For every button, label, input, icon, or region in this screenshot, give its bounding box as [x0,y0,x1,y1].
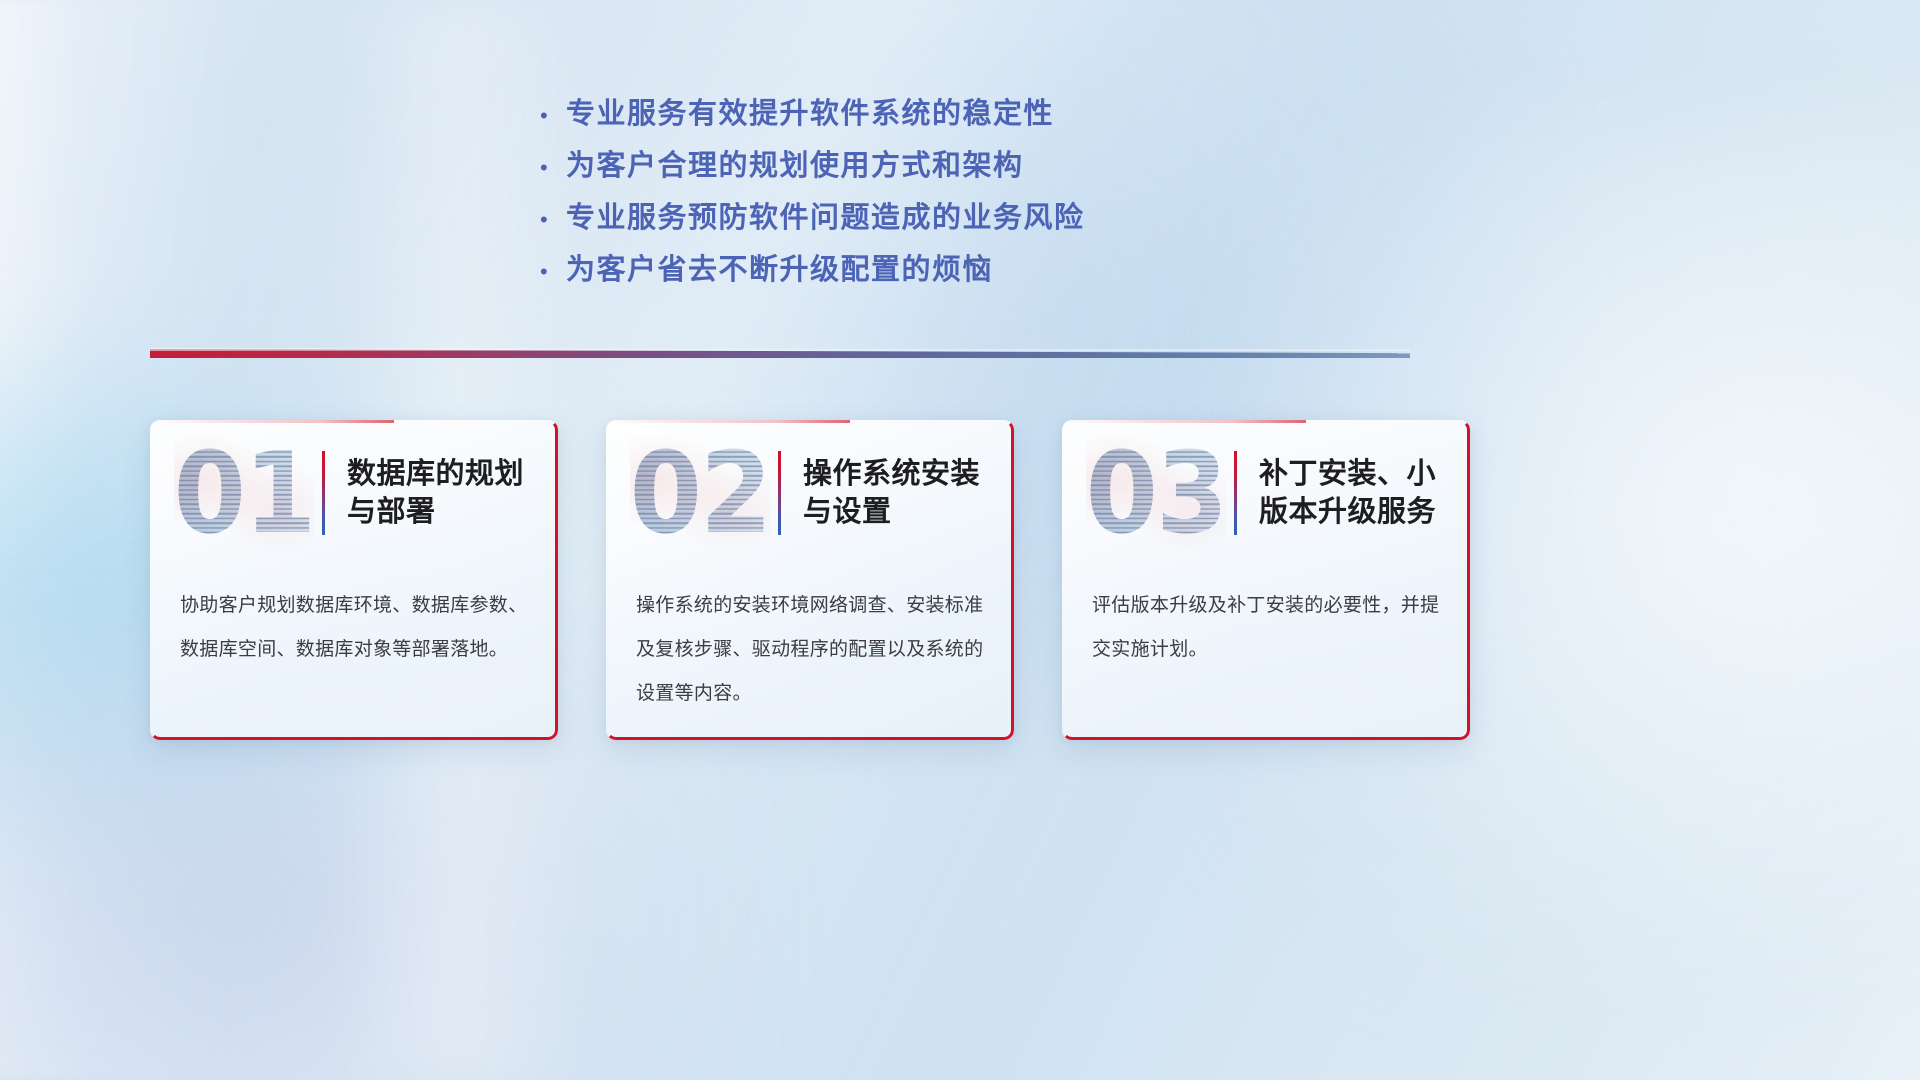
slide-canvas: • 专业服务有效提升软件系统的稳定性 • 为客户合理的规划使用方式和架构 • 专… [0,0,1920,1080]
bullet-dot-icon: • [540,105,566,127]
card-title-rule [1234,451,1237,535]
service-card-03[interactable]: 03 补丁安装、小版本升级服务 评估版本升级及补丁安装的必要性，并提交实施计划。 [1062,420,1470,740]
bullet-dot-icon: • [540,209,566,231]
card-title: 数据库的规划与部署 [347,455,532,532]
card-number-watermark: 03 [1092,438,1220,548]
list-item: • 专业服务有效提升软件系统的稳定性 [540,88,1440,140]
divider-highlight [150,348,1410,351]
list-item: • 为客户合理的规划使用方式和架构 [540,140,1440,192]
card-body-text: 协助客户规划数据库环境、数据库参数、数据库空间、数据库对象等部署落地。 [150,566,558,672]
card-title: 操作系统安装与设置 [803,455,988,532]
card-body-text: 评估版本升级及补丁安装的必要性，并提交实施计划。 [1062,566,1470,672]
service-card-group: 01 数据库的规划与部署 协助客户规划数据库环境、数据库参数、数据库空间、数据库… [150,420,1470,740]
card-header: 03 补丁安装、小版本升级服务 [1062,420,1470,566]
service-card-02[interactable]: 02 操作系统安装与设置 操作系统的安装环境网络调查、安装标准及复核步骤、驱动程… [606,420,1014,740]
card-title: 补丁安装、小版本升级服务 [1259,455,1444,532]
bullet-text: 为客户合理的规划使用方式和架构 [566,140,1024,192]
card-body-text: 操作系统的安装环境网络调查、安装标准及复核步骤、驱动程序的配置以及系统的设置等内… [606,566,1014,716]
card-title-rule [778,451,781,535]
card-header: 01 数据库的规划与部署 [150,420,558,566]
list-item: • 为客户省去不断升级配置的烦恼 [540,244,1440,296]
benefits-bullet-list: • 专业服务有效提升软件系统的稳定性 • 为客户合理的规划使用方式和架构 • 专… [540,88,1440,296]
card-number-watermark: 01 [180,438,308,548]
bullet-dot-icon: • [540,157,566,179]
card-number-watermark: 02 [636,438,764,548]
card-number-text: 03 [1086,437,1227,549]
bullet-dot-icon: • [540,261,566,283]
bullet-text: 为客户省去不断升级配置的烦恼 [566,244,993,296]
bullet-text: 专业服务有效提升软件系统的稳定性 [566,88,1054,140]
bullet-text: 专业服务预防软件问题造成的业务风险 [566,192,1085,244]
service-card-01[interactable]: 01 数据库的规划与部署 协助客户规划数据库环境、数据库参数、数据库空间、数据库… [150,420,558,740]
gradient-divider [150,345,1410,365]
card-title-rule [322,451,325,535]
card-number-text: 02 [630,437,771,549]
card-header: 02 操作系统安装与设置 [606,420,1014,566]
card-number-text: 01 [174,437,315,549]
list-item: • 专业服务预防软件问题造成的业务风险 [540,192,1440,244]
